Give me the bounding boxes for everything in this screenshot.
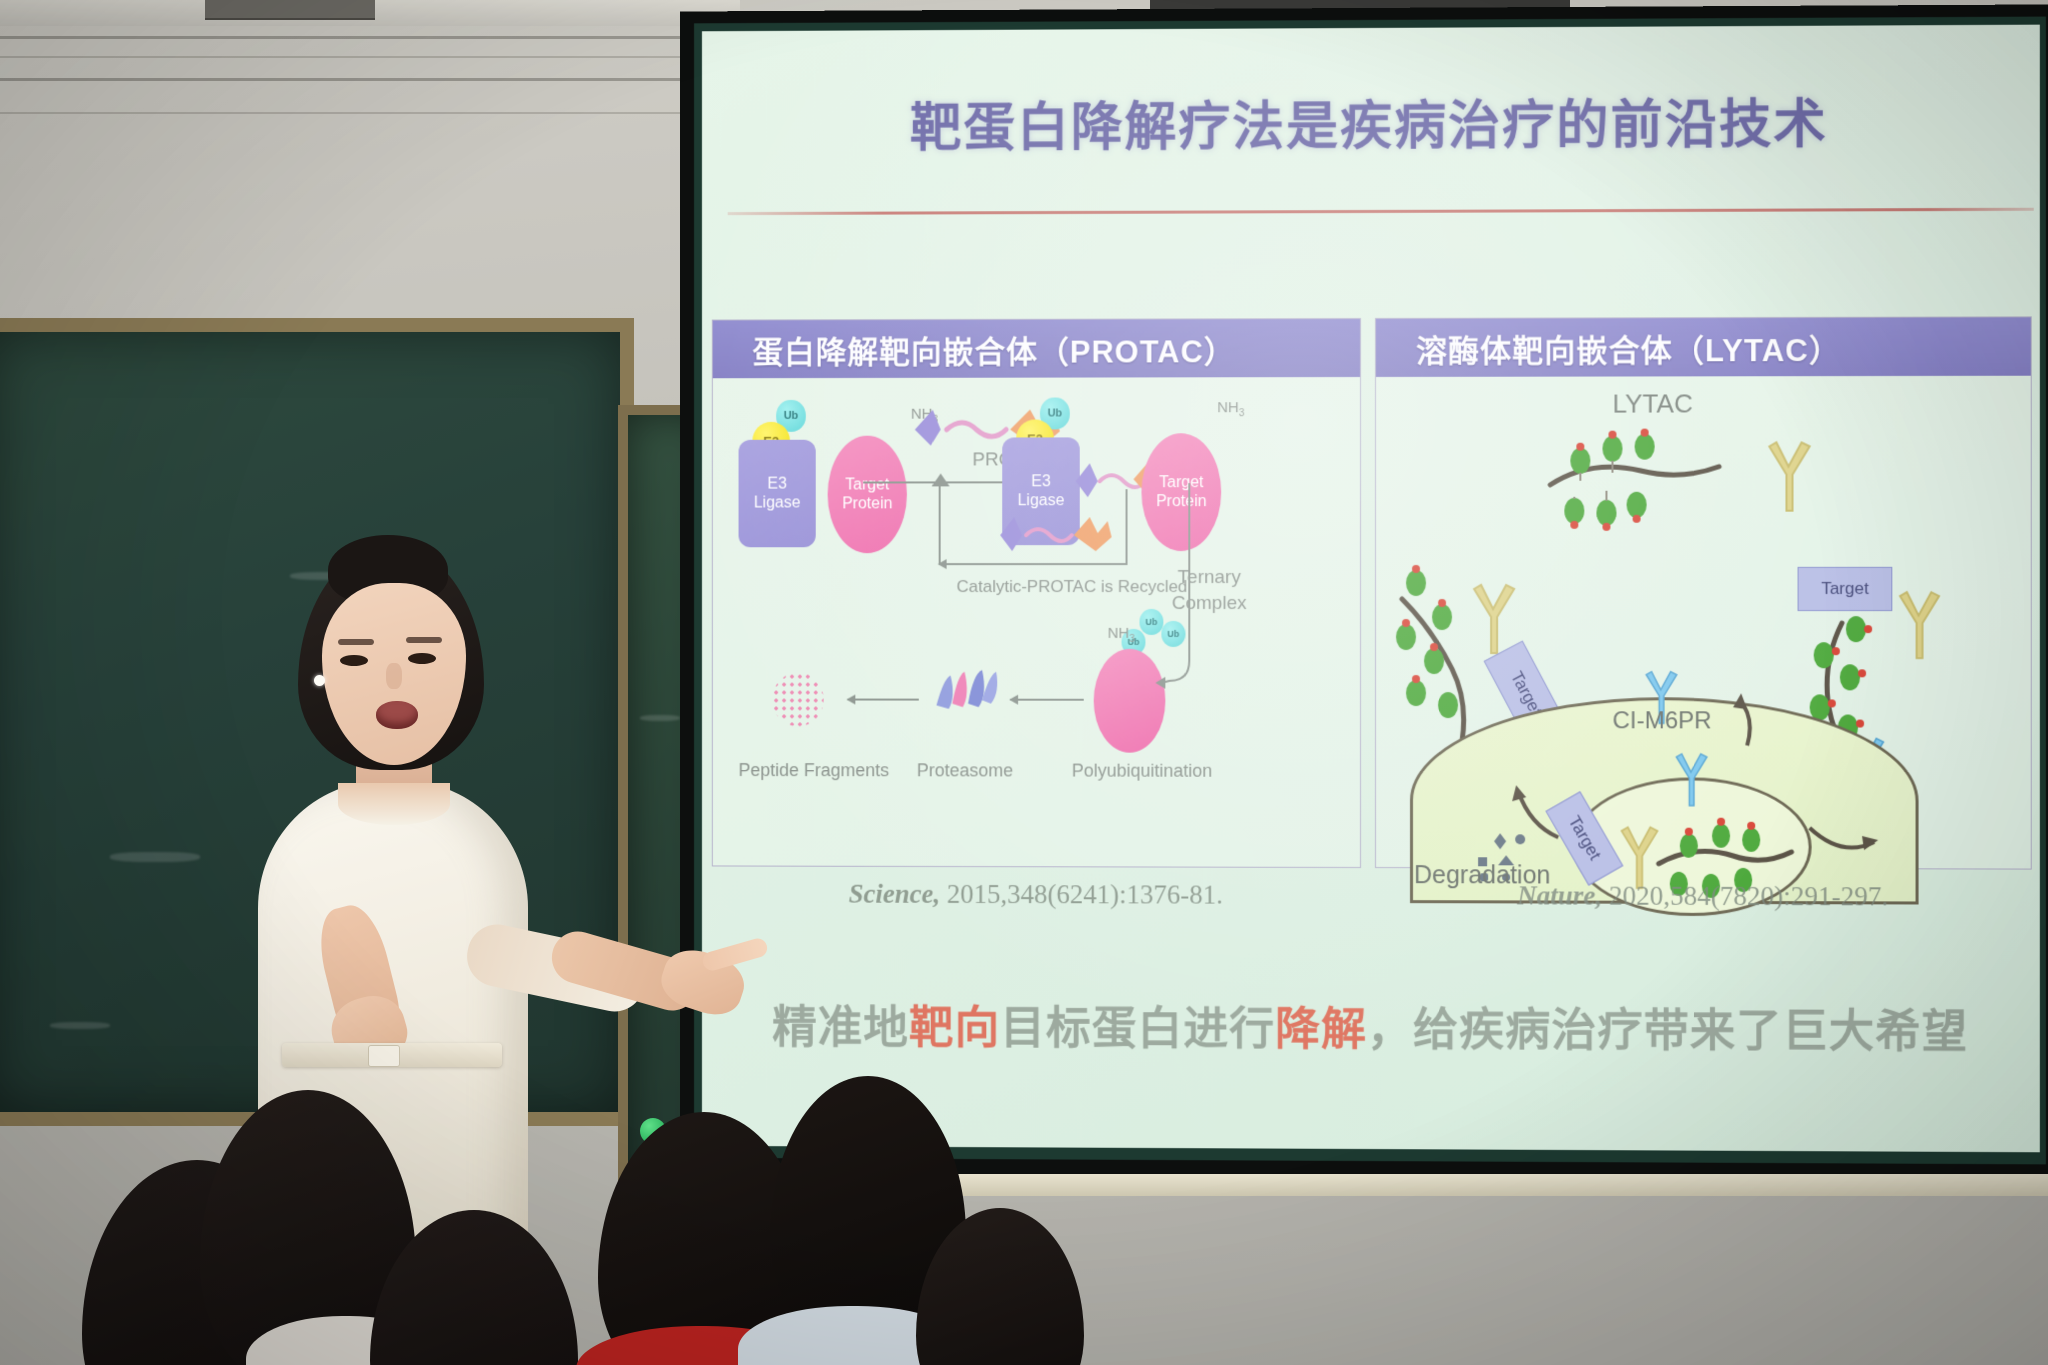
citation-nature: Nature, 2020,584(7820):291-297.: [1375, 880, 2032, 926]
panel-lytac: 溶酶体靶向嵌合体（LYTAC） LYTAC: [1375, 316, 2032, 869]
citations-row: Science, 2015,348(6241):1376-81. Nature,…: [712, 878, 2032, 926]
target-protein-label-line2: Protein: [842, 494, 892, 513]
arrow-internalize: [1707, 685, 1757, 755]
peptide-fragments-label: Peptide Fragments: [739, 760, 890, 781]
ci-m6pr-label: CI-M6PR: [1612, 707, 1711, 735]
recycle-arrow-back: [939, 563, 1128, 565]
title-divider-rule: [728, 208, 2034, 215]
target-box-extracellular: Target: [1798, 567, 1893, 611]
speaker-mouth: [376, 701, 418, 729]
proteasome-icon: [931, 665, 1001, 727]
recycle-arrowhead-up: [931, 473, 951, 487]
citation-science-journal: Science,: [849, 879, 940, 909]
panel-protac-header: 蛋白降解靶向嵌合体（PROTAC）: [713, 319, 1360, 378]
speaker-eye-right: [408, 653, 436, 664]
polyubiquitination-label: Polyubiquitination: [1072, 761, 1213, 782]
lecture-photo-scene: 靶蛋白降解疗法是疾病治疗的前沿技术 蛋白降解靶向嵌合体（PROTAC） Ub E…: [0, 0, 2048, 1365]
nh3-text-3: NH: [1108, 625, 1130, 642]
speaker-belt-buckle: [368, 1045, 400, 1067]
e3-label2-line1: E3: [1018, 472, 1065, 491]
nh3-sub-3: 3: [1129, 634, 1135, 645]
tagline-highlight-targeting: 靶向: [909, 1002, 1000, 1053]
target-protein-label-line1: Target: [842, 475, 892, 494]
panels-row: 蛋白降解靶向嵌合体（PROTAC） Ub E2 E3 Ligase: [712, 316, 2032, 869]
slide-tagline: 精准地靶向目标蛋白进行降解，给疾病治疗带来了巨大希望: [702, 991, 2040, 1061]
speaker-earring: [314, 675, 325, 686]
panel-protac-body: Ub E2 E3 Ligase Target: [713, 377, 1360, 867]
e3-label-line2: Ligase: [754, 494, 801, 513]
tagline-part3: ，给疾病治疗带来了巨大希望: [1367, 1004, 1968, 1057]
nh3-sub-2: 3: [1239, 408, 1245, 419]
e3-label2-line2: Ligase: [1018, 491, 1065, 510]
projector-screen-frame: 靶蛋白降解疗法是疾病治疗的前沿技术 蛋白降解靶向嵌合体（PROTAC） Ub E…: [680, 4, 2048, 1186]
recycle-line-up: [939, 481, 941, 565]
presentation-slide: 靶蛋白降解疗法是疾病治疗的前沿技术 蛋白降解靶向嵌合体（PROTAC） Ub E…: [702, 25, 2040, 1153]
e3-ligase-shape: E3 Ligase: [739, 440, 816, 548]
target-protein-shape: Target Protein: [828, 436, 907, 554]
protac-molecule-recycled: [996, 511, 1125, 559]
citation-science: Science, 2015,348(6241):1376-81.: [712, 878, 1361, 924]
peptide-fragments-icon: [772, 673, 823, 727]
catalytic-recycled-label: Catalytic-PROTAC is Recycled: [957, 577, 1188, 597]
tagline-part1: 精准地: [772, 1002, 909, 1053]
glycan-chain-top: [1544, 428, 1775, 549]
e3-label-line1: E3: [754, 475, 801, 494]
proteasome-label: Proteasome: [917, 760, 1013, 781]
tagline-part2: 目标蛋白进行: [1000, 1003, 1275, 1055]
receptor-icon-lysosome: [1669, 749, 1713, 811]
arrow-to-fragments: [847, 699, 918, 701]
speaker-eye-left: [340, 655, 368, 666]
nh3-text-2: NH: [1217, 399, 1239, 416]
ceiling-vent: [205, 0, 375, 20]
lytac-label: LYTAC: [1612, 388, 1692, 419]
nh3-label-bottom: NH3: [1108, 625, 1135, 645]
nh3-label-right: NH3: [1217, 399, 1244, 419]
speaker-brow-left: [338, 639, 374, 645]
citation-nature-rest: 2020,584(7820):291-297.: [1602, 881, 1888, 912]
arrow-recycle-receptor: [1804, 810, 1885, 870]
panel-protac: 蛋白降解靶向嵌合体（PROTAC） Ub E2 E3 Ligase: [712, 318, 1361, 868]
projection-screen: 靶蛋白降解疗法是疾病治疗的前沿技术 蛋白降解靶向嵌合体（PROTAC） Ub E…: [702, 25, 2040, 1153]
recycle-line-down: [1126, 489, 1128, 565]
citation-science-rest: 2015,348(6241):1376-81.: [940, 879, 1223, 910]
arrow-to-proteasome: [1010, 699, 1084, 701]
speaker-brow-right: [406, 637, 442, 643]
citation-nature-journal: Nature,: [1517, 880, 1602, 910]
speaker-nose: [386, 663, 402, 689]
panel-lytac-header: 溶酶体靶向嵌合体（LYTAC）: [1376, 317, 2031, 377]
slide-title: 靶蛋白降解疗法是疾病治疗的前沿技术: [702, 81, 2040, 162]
arrow-curve-to-degradation: [1155, 481, 1225, 697]
speaker-collar: [338, 783, 450, 825]
antibody-icon-top: [1759, 440, 1817, 514]
panel-lytac-body: LYTAC: [1376, 376, 2031, 869]
tagline-highlight-degradation: 降解: [1275, 1004, 1367, 1055]
